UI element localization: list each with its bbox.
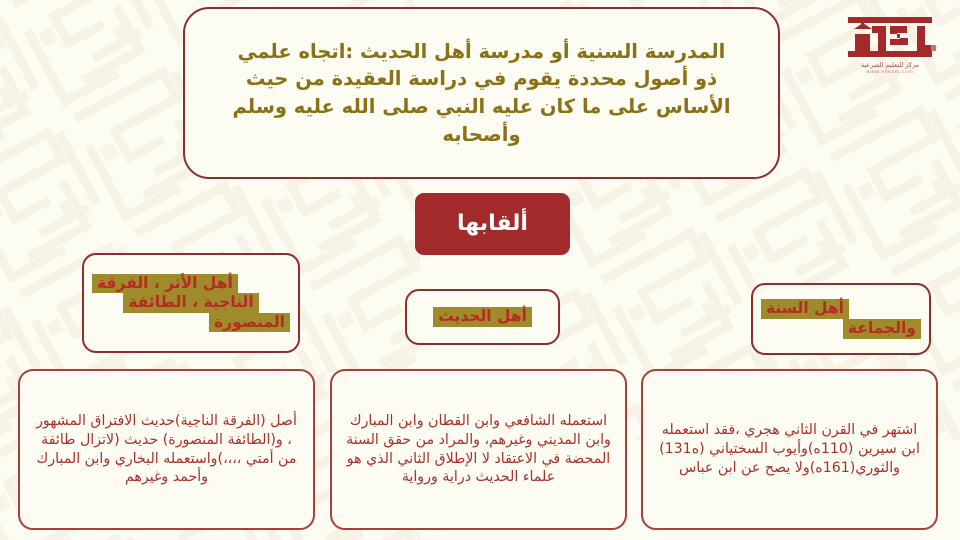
definition-header-box: المدرسة السنية أو مدرسة أهل الحديث :اتجا… <box>183 7 780 179</box>
ihkam-wordmark-icon <box>842 14 938 60</box>
section-title-text: ألقابها <box>457 213 528 235</box>
ihkam-logo: مركز للتعليم الشرعية www.ehkam.com <box>832 14 948 92</box>
description-box-ahl-al-athar: أصل (الفرقة الناجية)حديث الافتراق المشهو… <box>18 369 315 530</box>
alias-line: المنصورة <box>209 313 290 333</box>
description-box-ahl-al-sunnah: اشتهر في القرن الثاني هجري ،فقد استعمله … <box>641 369 938 530</box>
description-box-ahl-al-hadith: استعمله الشافعي وابن القطان وابن المبارك… <box>330 369 627 530</box>
alias-line: أهل الحديث <box>433 307 532 327</box>
alias-box-ahl-al-hadith: أهل الحديث <box>405 289 560 345</box>
description-text: استعمله الشافعي وابن القطان وابن المبارك… <box>344 412 613 487</box>
alias-line: أهل السنة <box>761 299 849 319</box>
description-text: اشتهر في القرن الثاني هجري ،فقد استعمله … <box>655 421 924 477</box>
definition-header-text: المدرسة السنية أو مدرسة أهل الحديث :اتجا… <box>232 38 730 149</box>
alias-line: الناجية ، الطائفة <box>123 293 258 313</box>
logo-subtitle: مركز للتعليم الشرعية <box>832 61 948 69</box>
alias-line: والجماعة <box>843 319 921 339</box>
alias-box-ahl-al-sunnah: أهل السنة والجماعة <box>751 283 931 355</box>
description-text: أصل (الفرقة الناجية)حديث الافتراق المشهو… <box>32 412 301 487</box>
alias-box-ahl-al-athar: أهل الأثر ، الفرقة الناجية ، الطائفة الم… <box>82 253 300 353</box>
alias-line: أهل الأثر ، الفرقة <box>92 274 238 294</box>
section-title-box: ألقابها <box>415 193 570 255</box>
logo-subtitle-secondary: www.ehkam.com <box>832 70 948 75</box>
